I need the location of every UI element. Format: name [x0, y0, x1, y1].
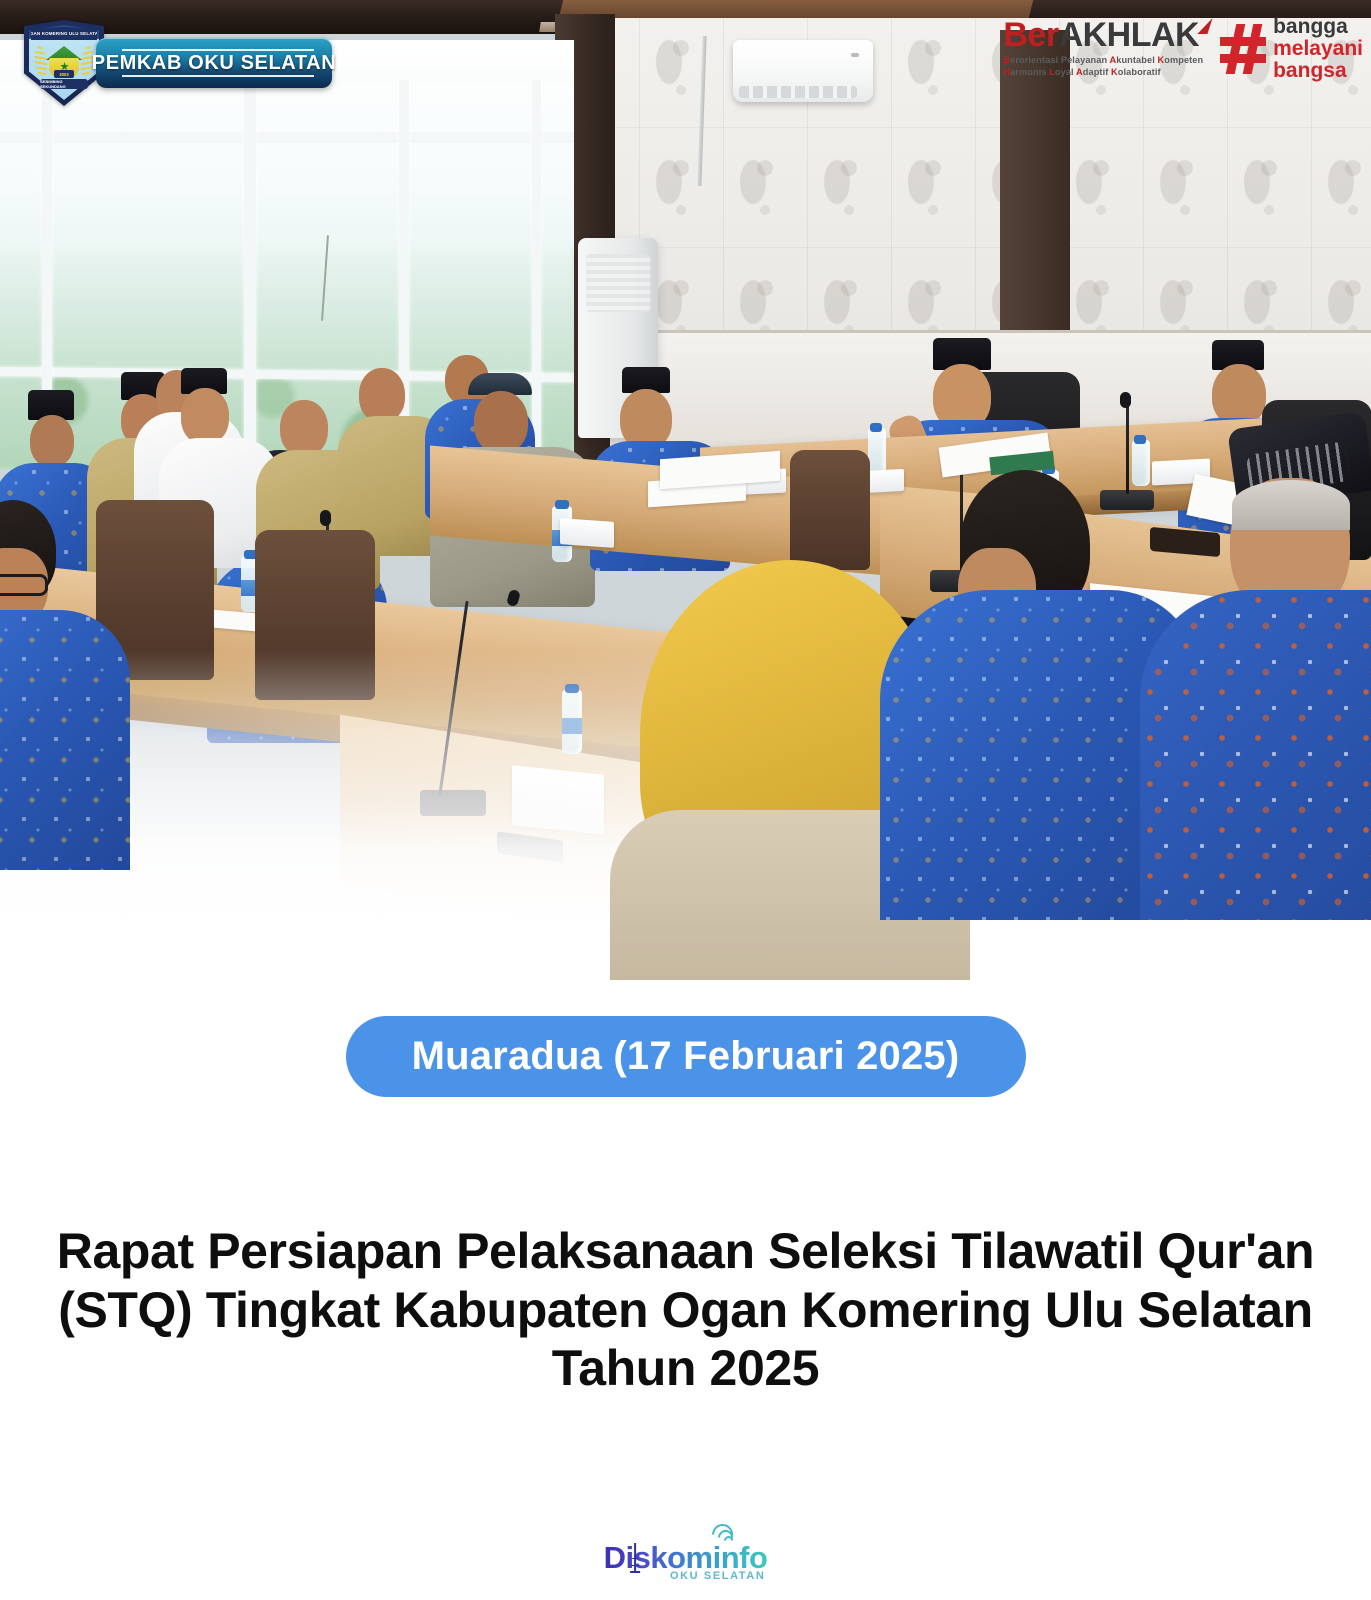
microphone-head: [1120, 392, 1131, 408]
bangga-melayani-bangsa-block: bangga melayani bangsa: [1220, 14, 1363, 81]
ac-indicator-led: [851, 53, 859, 57]
berakhlak-values-line-2: Harmonis Loyal Adaptif Kolaboratif: [1003, 67, 1203, 79]
ac-vent: [739, 86, 857, 98]
berakhlak-suffix: AKHLAK: [1059, 16, 1200, 54]
microphone-head: [320, 510, 331, 526]
diskominfo-wordmark-wrap: Diskominfo: [604, 1542, 768, 1573]
emblem-year: 2003: [54, 70, 74, 78]
microphone-base: [420, 790, 486, 816]
berakhlak-brand-block: BerAKHLAK Berorientasi Pelayanan Akuntab…: [1003, 14, 1210, 78]
water-bottle: [868, 428, 886, 476]
meeting-photo: [0, 0, 1371, 980]
tissue-box: [560, 518, 614, 548]
diskominfo-logo-lockup: Diskominfo OKU SELATAN: [604, 1542, 768, 1582]
head: [181, 388, 229, 444]
head: [474, 391, 528, 453]
head: [280, 400, 328, 456]
head: [620, 389, 672, 449]
pemkab-banner: PEMKAB OKU SELATAN: [96, 38, 332, 88]
bottle-label: [562, 718, 582, 734]
emblem-ribbon-text: SEBIMBING SEKUNDANG: [40, 79, 88, 89]
berakhlak-logo-lockup: BerAKHLAK Berorientasi Pelayanan Akuntab…: [1003, 14, 1363, 81]
torso-korpri-shirt: [0, 610, 130, 870]
microphone-arm: [1126, 400, 1129, 494]
window-mullion-vertical-4: [532, 80, 541, 470]
berakhlak-values-block: Berorientasi Pelayanan Akuntabel Kompete…: [1003, 55, 1203, 78]
ac-tower-grill: [586, 254, 650, 312]
window-mullion-vertical-2: [244, 80, 256, 470]
pemkab-logo-lockup: OGAN KOMERING ULU SELATAN 2003 SEBIMBING…: [24, 20, 332, 106]
pemkab-banner-label: PEMKAB OKU SELATAN: [92, 52, 337, 75]
head: [30, 415, 74, 467]
head: [1212, 364, 1266, 426]
location-date-label: Muaradua (17 Februari 2025): [412, 1034, 960, 1079]
berakhlak-tick-icon: [1198, 18, 1213, 34]
torso-batik-shirt: [1140, 590, 1371, 920]
chair-brown: [255, 530, 375, 700]
berakhlak-values-line-1: Berorientasi Pelayanan Akuntabel Kompete…: [1003, 55, 1203, 67]
hashtag-icon: [1220, 24, 1266, 74]
slogan-text-block: bangga melayani bangsa: [1273, 16, 1363, 81]
location-date-badge: Muaradua (17 Februari 2025): [346, 1016, 1026, 1097]
head: [359, 368, 405, 422]
slogan-line-1: bangga: [1273, 16, 1363, 38]
grey-hair: [1232, 480, 1350, 530]
air-conditioner-unit: [733, 40, 873, 102]
bottle-cap: [555, 500, 569, 509]
page-title: Rapat Persiapan Pelaksanaan Seleksi Tila…: [40, 1222, 1331, 1398]
bottle-cap: [1134, 435, 1146, 444]
bottle-cap: [565, 684, 579, 693]
berakhlak-prefix: Ber: [1003, 16, 1058, 54]
window-mullion-horizontal-1: [0, 132, 574, 143]
broadcast-tower-icon: [629, 1543, 641, 1573]
berakhlak-wordmark: BerAKHLAK: [1003, 18, 1210, 52]
slogan-line-3: bangsa: [1273, 60, 1363, 82]
eyeglasses: [0, 574, 48, 596]
tissue-box: [512, 765, 604, 835]
bottle-cap: [870, 423, 882, 432]
water-bottle: [1132, 440, 1150, 486]
chair-brown: [790, 450, 870, 570]
slogan-line-2: melayani: [1273, 38, 1363, 60]
poster-root: { "header": { "pemkab": { "banner_text":…: [0, 0, 1371, 1600]
photo-scene: [0, 0, 1371, 980]
wifi-signal-icon: [713, 1530, 733, 1546]
emblem-band-text: OGAN KOMERING ULU SELATAN: [31, 27, 97, 40]
